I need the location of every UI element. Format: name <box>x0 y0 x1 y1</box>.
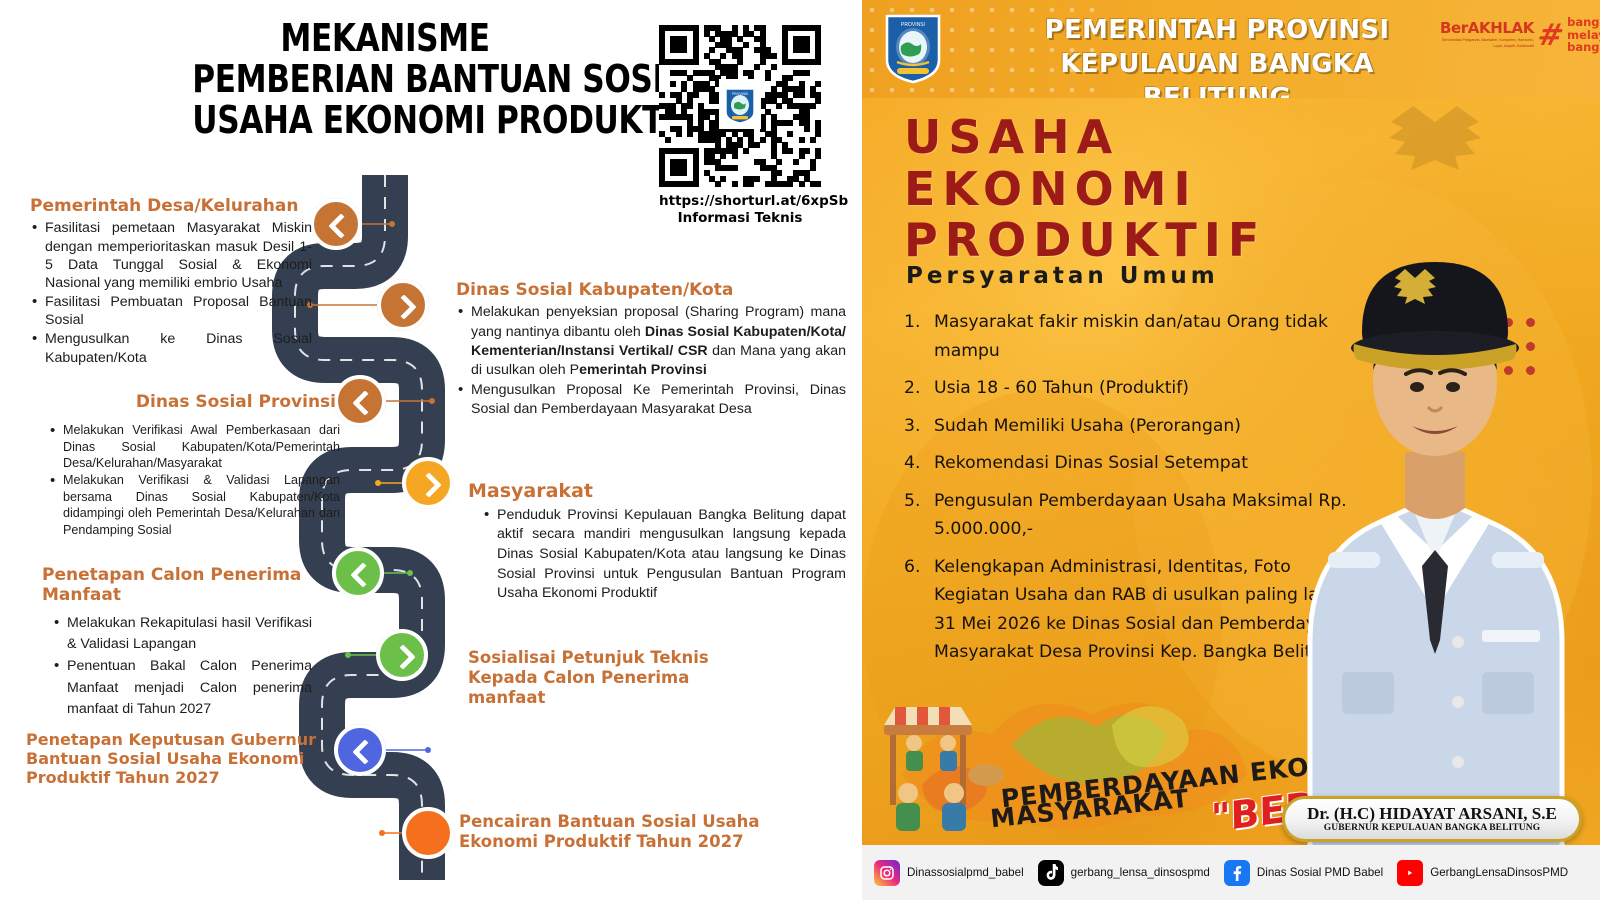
governor-title: GUBERNUR KEPULAUAN BANGKA BELITUNG <box>1324 823 1540 833</box>
milestone-sosialisasi-juknis: Sosialisai Petunjuk Teknis Kepada Calon … <box>468 648 768 710</box>
social-item-tiktok[interactable]: gerbang_lensa_dinsospmd <box>1038 860 1210 886</box>
qr-caption: Informasi Teknis <box>659 210 821 227</box>
section-dinas-sosial-provinsi: Dinas Sosial Provinsi Melakukan Verifika… <box>30 392 340 539</box>
list-item: Mengusulkan ke Dinas Sosial Kabupaten/Ko… <box>30 330 312 366</box>
social-media-bar: Dinassosialpmd_babel gerbang_lensa_dinso… <box>862 845 1600 900</box>
list-item: Penentuan Bakal Calon Penerima Manfaat m… <box>52 656 312 720</box>
section-heading: Penetapan Calon Penerima Manfaat <box>42 565 312 606</box>
header-title-line-1: PEMERINTAH PROVINSI <box>1002 14 1432 48</box>
section-pemerintah-desa: Pemerintah Desa/Kelurahan Fasilitasi pem… <box>30 196 312 368</box>
marker-pencairan-bantuan[interactable] <box>402 807 454 859</box>
requirements-subtitle: Persyaratan Umum <box>906 263 1219 289</box>
qr-url: https://shorturl.at/6xpSb <box>659 193 821 210</box>
section-heading: Pemerintah Desa/Kelurahan <box>30 196 312 216</box>
poster-root: MEKANISME PEMBERIAN BANTUAN SOSIAL USAHA… <box>0 0 1600 900</box>
marker-sosialisasi-juknis[interactable] <box>376 629 428 681</box>
qr-block: PROVINSI https://shorturl.at/6xpSb Infor… <box>659 25 821 227</box>
milestone-label: Penetapan Keputusan Gubernur Bantuan Sos… <box>26 730 331 788</box>
section-heading: Dinas Sosial Kabupaten/Kota <box>456 280 846 300</box>
berakhlak-tag-1: bangga <box>1567 16 1600 28</box>
svg-text:PROVINSI: PROVINSI <box>732 92 748 96</box>
social-handle: Dinassosialpmd_babel <box>907 866 1024 879</box>
title-line-3: USAHA EKONOMI PRODUKTIF <box>192 100 577 141</box>
youtube-icon <box>1397 860 1423 886</box>
program-title-line-3: PRODUKTIF <box>904 215 1266 267</box>
section-list: Fasilitasi pemetaan Masyarakat Miskin de… <box>30 219 312 366</box>
social-handle: Dinas Sosial PMD Babel <box>1257 866 1383 879</box>
provinsi-emblem-icon: PROVINSI <box>725 88 755 124</box>
social-handle: GerbangLensaDinsosPMD <box>1430 866 1568 879</box>
milestone-keputusan-gubernur: Penetapan Keputusan Gubernur Bantuan Sos… <box>26 730 331 791</box>
svg-text:PROVINSI: PROVINSI <box>901 22 925 28</box>
garuda-watermark-icon <box>1389 106 1481 170</box>
governor-photo <box>1270 82 1600 852</box>
section-list: Melakukan Verifikasi Awal Pemberkasaan d… <box>30 422 340 538</box>
milestone-label: Sosialisai Petunjuk Teknis Kepada Calon … <box>468 648 768 707</box>
provinsi-bangka-belitung-emblem-icon: PROVINSI <box>884 14 942 84</box>
marker-pemerintah-desa[interactable] <box>310 198 362 250</box>
marker-penetapan-calon[interactable] <box>332 547 384 599</box>
governor-name: Dr. (H.C) HIDAYAT ARSANI, S.E <box>1307 805 1557 823</box>
marker-dinas-sosial-kabupaten[interactable] <box>377 279 429 331</box>
berakhlak-sub: Berorientasi Pelayanan, Akuntabel, Kompe… <box>1440 38 1534 49</box>
instagram-icon <box>874 860 900 886</box>
page-title: MEKANISME PEMBERIAN BANTUAN SOSIAL USAHA… <box>192 18 577 141</box>
section-list: Penduduk Provinsi Kepulauan Bangka Belit… <box>468 506 846 604</box>
list-item: Fasilitasi pemetaan Masyarakat Miskin de… <box>30 219 312 292</box>
milestone-label: Pencairan Bantuan Sosial Usaha Ekonomi P… <box>459 812 804 852</box>
berakhlak-brand: BerAKHLAK <box>1440 21 1534 36</box>
right-panel-persyaratan: PROVINSI PEMERINTAH PROVINSI KEPULAUAN B… <box>862 0 1600 900</box>
section-masyarakat: Masyarakat Penduduk Provinsi Kepulauan B… <box>468 480 846 605</box>
list-item: Melakukan Rekapitulasi hasil Verifikasi … <box>52 613 312 656</box>
berakhlak-tag-3: bangsa <box>1567 41 1600 53</box>
list-item: Melakukan Verifikasi Awal Pemberkasaan d… <box>48 422 340 471</box>
list-item: Fasilitasi Pembuatan Proposal Bantuan So… <box>30 293 312 329</box>
qr-code[interactable]: PROVINSI <box>659 25 821 187</box>
section-list: Melakukan penyeksian proposal (Sharing P… <box>456 303 846 419</box>
title-line-1: MEKANISME <box>192 18 577 59</box>
section-heading: Masyarakat <box>468 480 846 503</box>
social-item-facebook[interactable]: Dinas Sosial PMD Babel <box>1224 860 1383 886</box>
section-list: Melakukan Rekapitulasi hasil Verifikasi … <box>42 613 312 720</box>
social-handle: gerbang_lensa_dinsospmd <box>1071 866 1210 879</box>
berakhlak-logo: BerAKHLAK Berorientasi Pelayanan, Akunta… <box>1440 14 1590 56</box>
section-dinas-sosial-kabupaten: Dinas Sosial Kabupaten/Kota Melakukan pe… <box>456 280 846 420</box>
facebook-icon <box>1224 860 1250 886</box>
berakhlak-hash-icon: # <box>1535 22 1566 49</box>
program-title-line-1: USAHA <box>904 112 1266 164</box>
list-item: Penduduk Provinsi Kepulauan Bangka Belit… <box>482 506 846 604</box>
title-line-2: PEMBERIAN BANTUAN SOSIAL <box>192 59 577 100</box>
section-heading: Dinas Sosial Provinsi <box>30 392 340 412</box>
governor-nameplate: Dr. (H.C) HIDAYAT ARSANI, S.E GUBERNUR K… <box>1282 796 1582 842</box>
social-item-instagram[interactable]: Dinassosialpmd_babel <box>874 860 1024 886</box>
social-item-youtube[interactable]: GerbangLensaDinsosPMD <box>1397 860 1568 886</box>
list-item: Mengusulkan Proposal Ke Pemerintah Provi… <box>456 381 846 419</box>
list-item: Melakukan penyeksian proposal (Sharing P… <box>456 303 846 380</box>
program-title-line-2: EKONOMI <box>904 164 1266 216</box>
marker-masyarakat[interactable] <box>402 457 454 509</box>
tiktok-icon <box>1038 860 1064 886</box>
milestone-pencairan-bantuan: Pencairan Bantuan Sosial Usaha Ekonomi P… <box>459 812 804 855</box>
left-panel-mekanisme: MEKANISME PEMBERIAN BANTUAN SOSIAL USAHA… <box>0 0 862 900</box>
section-penetapan-calon: Penetapan Calon Penerima Manfaat Melakuk… <box>42 565 312 721</box>
marker-dinas-sosial-provinsi[interactable] <box>334 375 386 427</box>
list-item: Melakukan Verifikasi & Validasi Lapangan… <box>48 472 340 537</box>
marker-keputusan-gubernur[interactable] <box>334 724 386 776</box>
program-title: USAHA EKONOMI PRODUKTIF <box>904 112 1266 267</box>
